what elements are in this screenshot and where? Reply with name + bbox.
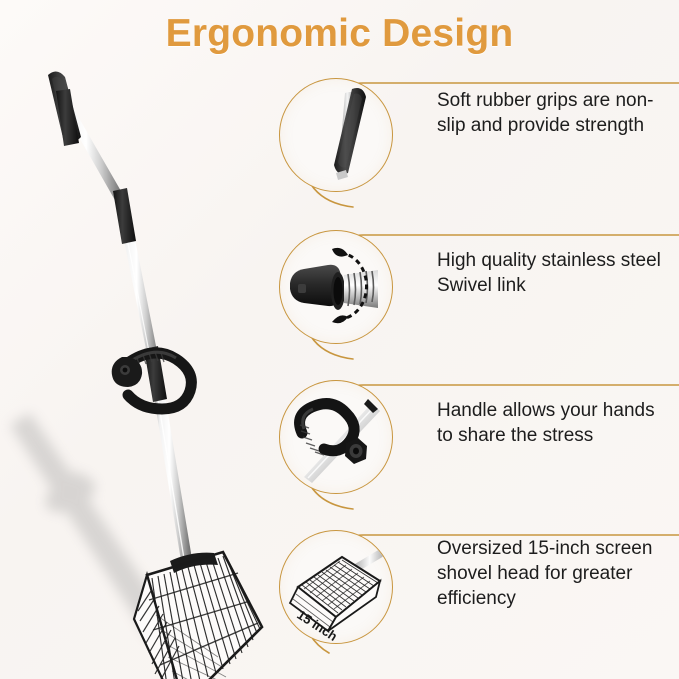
product-image [0,55,280,679]
wire-mesh-scoop-head [134,552,262,679]
feature-icon-circle: 15 inch [261,516,401,656]
feature-item[interactable]: Handle allows your hands to share the st… [255,360,679,510]
mesh-scoop-icon: 15 inch [280,531,392,643]
product-illustration [0,55,280,679]
feature-icon-circle [261,216,401,356]
feature-list: Soft rubber grips are non-slip and provi… [255,58,679,679]
feature-text: Soft rubber grips are non-slip and provi… [437,88,675,138]
feature-text: Handle allows your hands to share the st… [437,398,675,448]
feature-item[interactable]: 15 inch Oversized 15-inch screen shovel … [255,510,679,660]
locking-collar-mid [113,188,136,244]
feature-item[interactable]: Soft rubber grips are non-slip and provi… [255,58,679,208]
feature-item[interactable]: High quality stainless steel Swivel link [255,210,679,360]
page-title: Ergonomic Design [0,12,679,56]
infographic-page: Ergonomic Design [0,0,679,679]
rubber-grip-icon [280,79,392,191]
feature-icon-circle [261,64,401,204]
swivel-link-icon [280,231,392,343]
d-handle-icon [280,381,392,493]
feature-text: Oversized 15-inch screen shovel head for… [437,536,675,611]
threaded-rod [344,270,378,308]
feature-icon-circle [261,366,401,506]
feature-text: High quality stainless steel Swivel link [437,248,675,298]
